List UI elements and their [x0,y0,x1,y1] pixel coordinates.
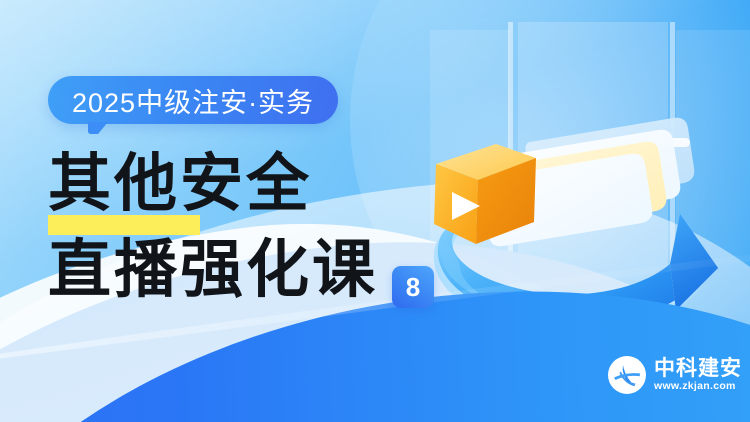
badge-tail [88,122,108,134]
brand-name: 中科建安 [654,358,742,380]
course-category-badge: 2025中级注安·实务 [48,76,338,124]
episode-number: 8 [406,274,420,300]
brand-website: www.zkjan.com [654,381,742,393]
logo-text-group: 中科建安 www.zkjan.com [654,358,742,393]
headline-line-1: 其他安全 [48,152,312,216]
headline-row-1: 其他安全 [48,152,378,216]
headline-line-2: 直播强化课 [48,238,378,302]
logo-mark-icon [608,356,646,394]
headline-block: 其他安全 直播强化课 [48,152,378,303]
headline-row-2: 直播强化课 [48,238,378,302]
course-category-label: 2025中级注安·实务 [72,81,314,120]
course-promo-banner: 2025中级注安·实务 其他安全 直播强化课 8 中科建安 www.zkjan.… [0,0,750,422]
episode-number-badge: 8 [392,266,434,308]
brand-logo: 中科建安 www.zkjan.com [608,356,742,394]
